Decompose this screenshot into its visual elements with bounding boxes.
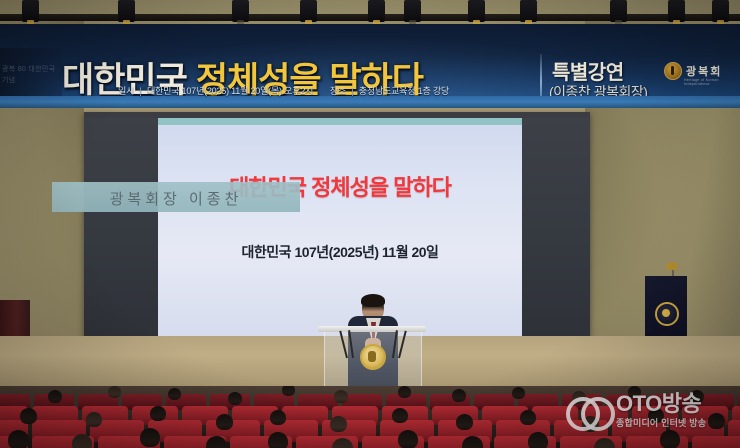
banner-place-label: 장소 [330,86,346,96]
spotlight-5 [368,0,385,22]
gwangbokhoe-logo-text: 광복회 [686,63,722,79]
flag-emblem-icon [655,302,679,326]
audience-head [330,416,347,432]
gwangbokhoe-logo-subtext: Heritage of Korean Independence [684,78,740,86]
audience-head [512,387,525,399]
slide-presenter-name: 광복회장 이종찬 [52,188,300,209]
speaker-hair [361,294,385,307]
watermark-brand: OTO방송 [616,393,706,415]
broadcaster-watermark: OTO방송 종합미디어 인터넷 방송 [566,386,736,434]
audience-head [398,430,418,448]
banner-sep-1: | [139,86,141,96]
slide-date-line: 대한민국 107년(2025년) 11월 20일 [158,242,522,262]
spotlight-10 [668,0,685,22]
audience-head [8,430,29,448]
seat [692,436,740,448]
gwangbokhoe-seal-icon [664,62,682,80]
audience-head [228,392,242,405]
audience-head [48,390,62,403]
audience-head [282,386,295,396]
audience-head [140,428,160,447]
audience-head [392,408,408,423]
projection-screen-dark-left [84,118,158,338]
spotlight-4 [300,0,317,22]
podium-emblem-icon [360,344,386,370]
spotlight-8 [520,0,537,22]
banner-info-line: 일시 | 대한민국 107년(2025) 11월 20일(목) 오후2시 장소 … [118,84,449,97]
banner-date-value: 대한민국 107년(2025) 11월 20일(목) 오후2시 [147,86,313,96]
oto-rings-icon [566,395,610,425]
slide-accent-band [158,118,522,125]
banner-sep-2: | [351,86,353,96]
audience-head [334,390,348,403]
audience-head [268,432,288,448]
audience-head [216,414,233,430]
banner-date-label: 일시 [118,86,134,96]
audience-head [456,414,473,430]
audience-head [452,389,466,402]
auditorium-photo: 광복 80 대한민국 기념 대한민국 정체성을 말하다 특별강연 (이종찬 광복… [0,0,740,448]
audience-head [528,432,548,448]
flag-finial [666,262,678,270]
audience-head [398,386,411,398]
banner-left-ghost-text: 광복 80 대한민국 기념 [2,64,60,86]
spotlight-9 [610,0,627,22]
spotlight-7 [468,0,485,22]
audience-head [150,406,166,421]
watermark-text: OTO방송 종합미디어 인터넷 방송 [616,393,706,428]
banner-bottom-strip [0,96,740,108]
spotlight-11 [712,0,729,22]
audience-head [270,410,286,425]
audience-head [86,412,102,427]
banner-place-value: 충청남도교육청 1층 강당 [359,86,449,96]
audience-head [20,408,37,424]
spotlight-1 [22,0,39,22]
audience-head [168,388,181,400]
projection-screen-dark-right [522,118,590,338]
presentation-slide: 대한민국 정체성을 말하다 대한민국 107년(2025년) 11월 20일 [158,118,522,338]
audience-head [520,410,536,425]
audience-head [72,434,92,448]
spotlight-3 [232,0,249,22]
watermark-tagline: 종합미디어 인터넷 방송 [616,419,706,428]
spotlight-6 [404,0,421,22]
audience-head [108,386,121,398]
spotlight-2 [118,0,135,22]
banner-special-lecture-label: 특별강연 [552,56,624,85]
podium-top-surface [318,326,426,332]
